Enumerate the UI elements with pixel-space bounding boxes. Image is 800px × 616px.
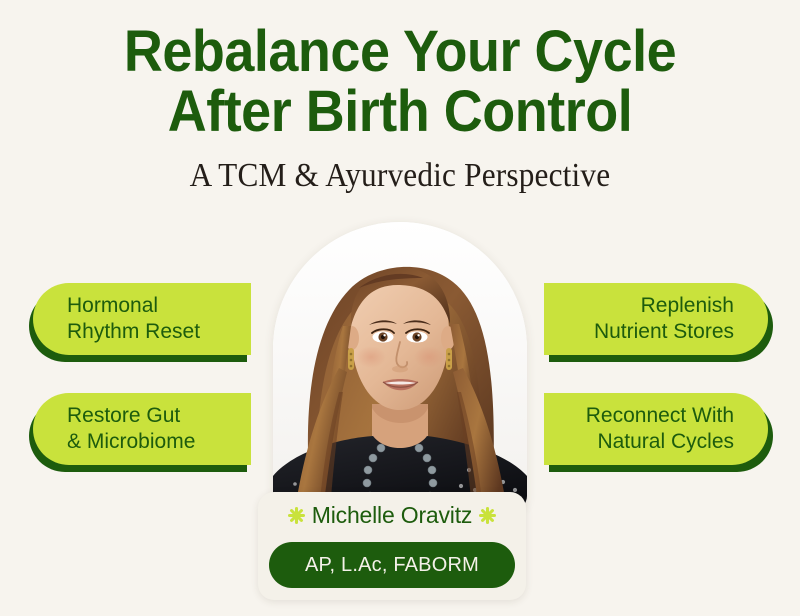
speaker-name-card: Michelle Oravitz AP, L.Ac, FABORM (258, 492, 526, 600)
benefit-pill-hormonal-rhythm-reset[interactable]: Hormonal Rhythm Reset (33, 283, 251, 355)
speaker-name-row: Michelle Oravitz (258, 502, 526, 529)
benefit-pill-label: Replenish Nutrient Stores (594, 293, 734, 345)
speaker-photo (273, 222, 527, 510)
benefit-pill-label: Reconnect With Natural Cycles (586, 403, 734, 455)
sparkle-asterisk-icon (479, 507, 496, 524)
benefit-pill-label: Hormonal Rhythm Reset (67, 293, 200, 345)
poster-canvas: Rebalance Your Cycle After Birth Control… (0, 0, 800, 616)
benefit-pill-restore-gut-microbiome[interactable]: Restore Gut & Microbiome (33, 393, 251, 465)
speaker-name: Michelle Oravitz (312, 502, 472, 529)
page-title: Rebalance Your Cycle After Birth Control (28, 22, 772, 142)
speaker-portrait-frame (273, 222, 527, 510)
benefit-pill-replenish-nutrient-stores[interactable]: Replenish Nutrient Stores (544, 283, 768, 355)
speaker-credentials-badge: AP, L.Ac, FABORM (269, 542, 515, 588)
speaker-credentials: AP, L.Ac, FABORM (305, 554, 479, 577)
sparkle-asterisk-icon (288, 507, 305, 524)
benefit-pill-reconnect-natural-cycles[interactable]: Reconnect With Natural Cycles (544, 393, 768, 465)
page-subtitle: A TCM & Ayurvedic Perspective (32, 157, 768, 195)
benefit-pill-label: Restore Gut & Microbiome (67, 403, 195, 455)
